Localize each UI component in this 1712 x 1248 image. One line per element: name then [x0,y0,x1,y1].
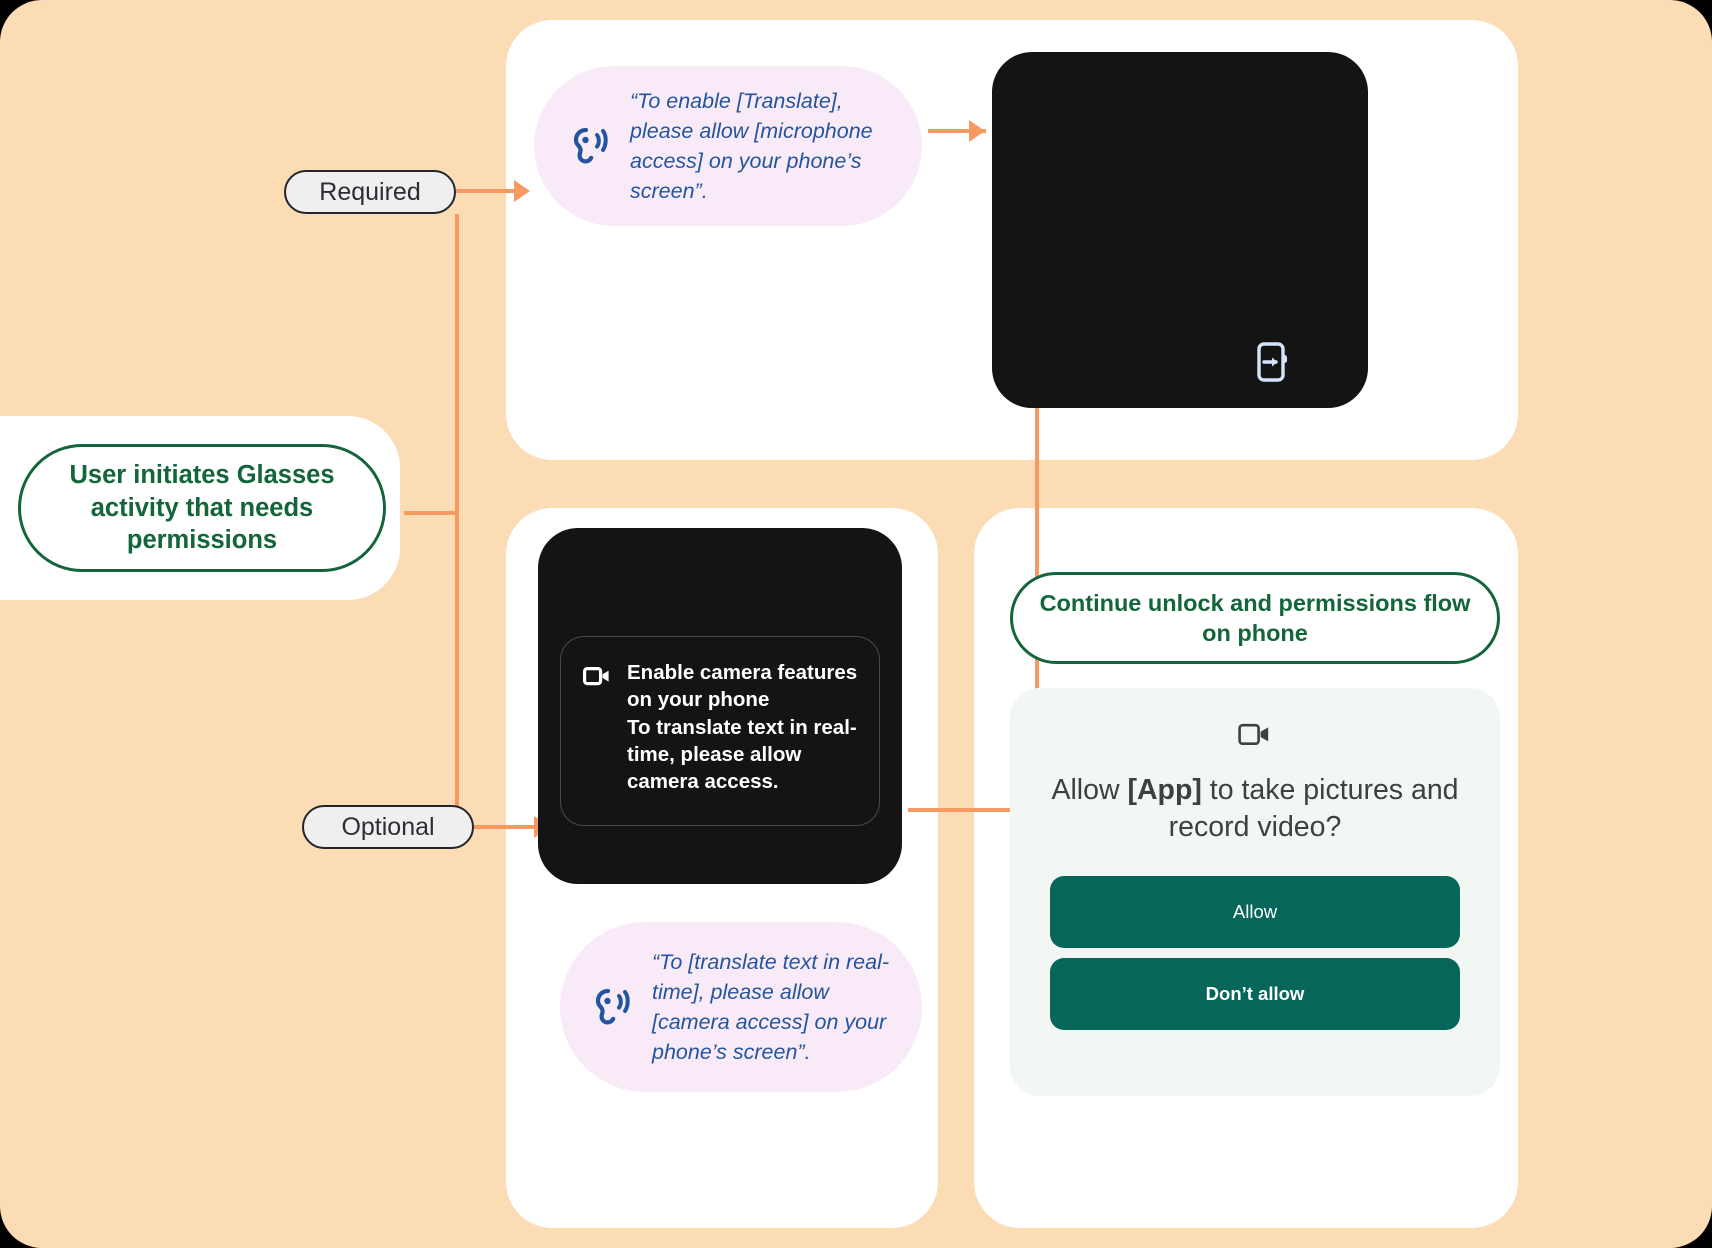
permission-question-suffix: to take pictures and record video? [1169,774,1459,843]
start-node: User initiates Glasses activity that nee… [18,444,386,572]
arrowhead-required-to-bubble [514,180,530,202]
connector-optional-to-card [474,825,536,829]
video-camera-icon [1238,722,1272,748]
glasses-camera-body: To translate text in real-time, please a… [627,714,861,796]
permission-question-app: [App] [1127,774,1201,806]
android-permission-dialog: Allow [App] to take pictures and record … [1010,688,1500,1096]
camera-prompt-bubble: “To [translate text in real-time], pleas… [560,922,922,1092]
continue-on-phone-label: Continue unlock and permissions flow on … [1035,588,1475,648]
microphone-prompt-text: “To enable [Translate], please allow [mi… [630,86,896,206]
flow-diagram-canvas: User initiates Glasses activity that nee… [0,0,1712,1248]
ear-audio-icon [568,124,608,168]
camera-prompt-text: “To [translate text in real-time], pleas… [652,947,898,1067]
deny-button[interactable]: Don’t allow [1050,958,1460,1030]
branch-pill-required[interactable]: Required [284,170,456,214]
connector-start-to-stem [404,511,459,515]
permission-question-prefix: Allow [1051,774,1127,806]
connector-required-to-bubble [456,189,516,193]
glasses-camera-title: Enable camera features on your phone [627,659,861,714]
start-node-label: User initiates Glasses activity that nee… [47,459,357,557]
branch-pill-optional[interactable]: Optional [302,805,474,849]
branch-pill-optional-label: Optional [341,813,434,842]
video-camera-icon [583,665,611,687]
permission-question: Allow [App] to take pictures and record … [1040,772,1470,846]
continue-on-phone-node: Continue unlock and permissions flow on … [1010,572,1500,664]
arrowhead-bubble-to-glasses [969,120,985,142]
unlock-phone-icon [1252,340,1296,384]
allow-button[interactable]: Allow [1050,876,1460,948]
glasses-unlock-card [992,52,1368,408]
glasses-camera-notification: Enable camera features on your phone To … [560,636,880,826]
microphone-prompt-bubble: “To enable [Translate], please allow [mi… [534,66,922,226]
branch-pill-required-label: Required [319,178,420,207]
ear-audio-icon [590,985,630,1029]
